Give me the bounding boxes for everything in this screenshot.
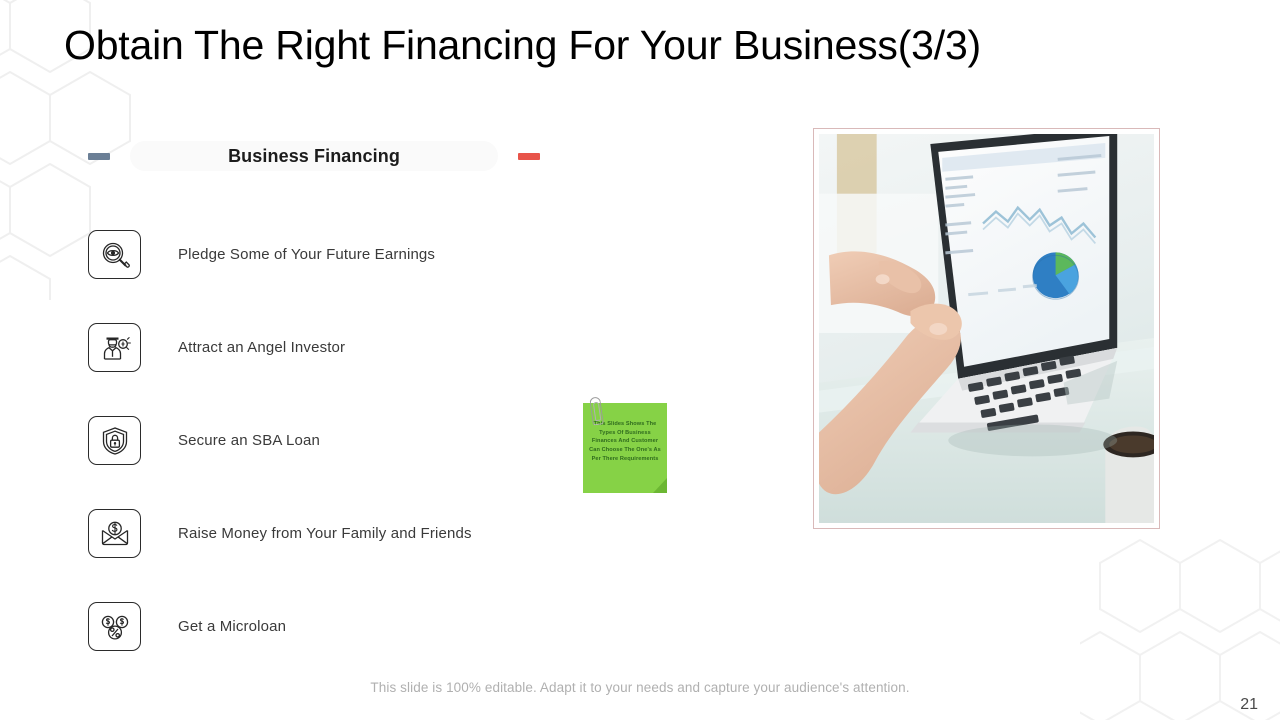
section-header-pill[interactable]: Business Financing: [130, 141, 498, 171]
list-item-label: Secure an SBA Loan: [178, 432, 320, 449]
list-item[interactable]: Secure an SBA Loan: [88, 416, 648, 509]
shield-lock-icon: [88, 416, 141, 465]
investor-person-icon: [88, 323, 141, 372]
list-item-label: Pledge Some of Your Future Earnings: [178, 246, 435, 263]
list-item[interactable]: Attract an Angel Investor: [88, 323, 648, 416]
list-item-label: Raise Money from Your Family and Friends: [178, 525, 472, 542]
list-item-label: Get a Microloan: [178, 618, 286, 635]
sticky-note[interactable]: This Slides Shows The Types Of Business …: [583, 403, 667, 493]
section-header-label: Business Financing: [228, 146, 400, 167]
section-header-row: Business Financing: [88, 141, 540, 171]
photo-frame: [813, 128, 1160, 529]
envelope-money-icon: [88, 509, 141, 558]
slide-canvas: Obtain The Right Financing For Your Busi…: [0, 0, 1280, 720]
list-item-label: Attract an Angel Investor: [178, 339, 345, 356]
laptop-photo: [819, 134, 1154, 523]
financing-options-list: Pledge Some of Your Future Earnings: [88, 230, 648, 695]
list-item[interactable]: Raise Money from Your Family and Friends: [88, 509, 648, 602]
page-number: 21: [1240, 696, 1258, 714]
list-item[interactable]: Pledge Some of Your Future Earnings: [88, 230, 648, 323]
left-dash-marker: [88, 153, 110, 160]
laptop-photo-illustration: [819, 134, 1154, 523]
page-title: Obtain The Right Financing For Your Busi…: [64, 22, 1214, 69]
coins-percent-icon: [88, 602, 141, 651]
magnifier-eye-icon: [88, 230, 141, 279]
sticky-note-text: This Slides Shows The Types Of Business …: [587, 420, 663, 463]
right-dash-marker: [518, 153, 540, 160]
footer-note: This slide is 100% editable. Adapt it to…: [0, 680, 1280, 695]
